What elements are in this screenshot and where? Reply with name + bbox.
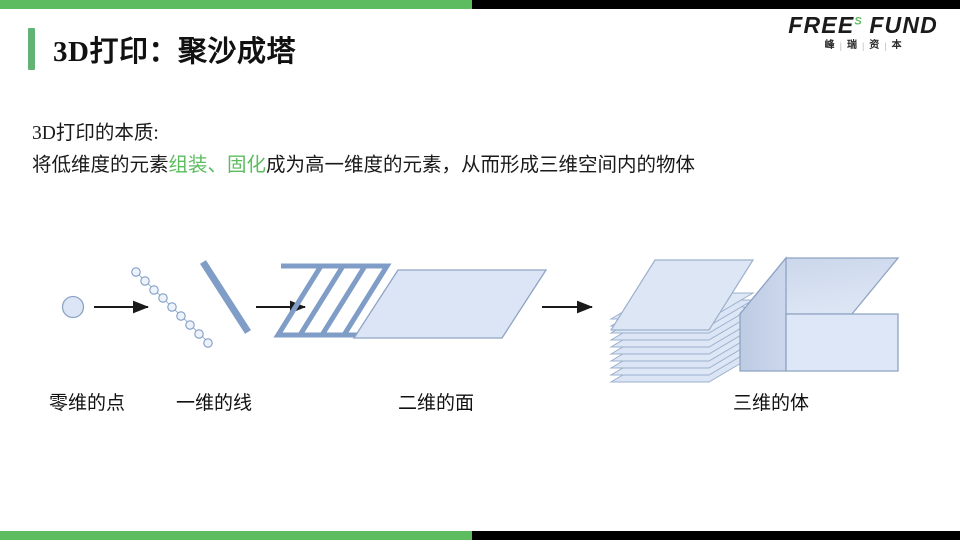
- bottom-accent-bar: [0, 531, 960, 540]
- body-line-2: 将低维度的元素组装、固化成为高一维度的元素，从而形成三维空间内的物体: [32, 150, 695, 182]
- logo-cn-char-0: 峰: [825, 41, 835, 51]
- three-dimension-solid-box: [740, 258, 898, 371]
- logo-separator-1: |: [862, 42, 864, 51]
- top-bar-green-segment: [0, 0, 472, 9]
- body-line-2-highlight: 组装、固化: [169, 155, 267, 176]
- two-dimension-plane-shape: [354, 270, 546, 338]
- logo-cn-char-1: 瑞: [847, 41, 857, 51]
- logo-separator-2: |: [884, 42, 886, 51]
- logo-cn-char-3: 本: [892, 41, 902, 51]
- caption-zero-dimension: 零维的点: [49, 388, 125, 415]
- page-title: 3D打印：聚沙成塔: [53, 28, 296, 70]
- three-dimension-layer-stack: [611, 260, 753, 382]
- caption-three-dimension: 三维的体: [733, 388, 809, 415]
- logo-chinese-name: 峰 | 瑞 | 资 | 本: [788, 41, 938, 51]
- bottom-bar-green-segment: [0, 531, 472, 540]
- top-accent-bar: [0, 0, 960, 9]
- caption-one-dimension: 一维的线: [176, 388, 252, 415]
- top-bar-black-segment: [472, 0, 960, 9]
- caption-two-dimension: 二维的面: [398, 388, 474, 415]
- bottom-bar-black-segment: [472, 531, 960, 540]
- logo-separator-0: |: [840, 42, 842, 51]
- logo-cn-char-2: 资: [869, 41, 879, 51]
- body-line-1: 3D打印的本质:: [32, 118, 695, 150]
- zero-dimension-point-shape: [63, 297, 84, 318]
- body-line-2-prefix: 将低维度的元素: [32, 155, 169, 176]
- logo-wordmark: FREES FUND: [788, 14, 938, 37]
- slide-title-row: 3D打印：聚沙成塔: [28, 28, 296, 70]
- one-dimension-solid-line: [203, 262, 248, 332]
- body-paragraph: 3D打印的本质: 将低维度的元素组装、固化成为高一维度的元素，从而形成三维空间内…: [32, 118, 695, 182]
- logo-free-text: FREE: [788, 12, 854, 38]
- freesfund-logo: FREES FUND 峰 | 瑞 | 资 | 本: [788, 14, 938, 51]
- title-accent-bar: [28, 28, 35, 70]
- body-line-2-suffix: 成为高一维度的元素，从而形成三维空间内的物体: [266, 155, 695, 176]
- slide-root: FREES FUND 峰 | 瑞 | 资 | 本 3D打印：聚沙成塔 3D打印的…: [0, 0, 960, 540]
- dimension-captions: 零维的点 一维的线 二维的面 三维的体: [0, 388, 960, 422]
- logo-fund-text: FUND: [869, 12, 938, 38]
- logo-superscript-s: S: [854, 15, 861, 27]
